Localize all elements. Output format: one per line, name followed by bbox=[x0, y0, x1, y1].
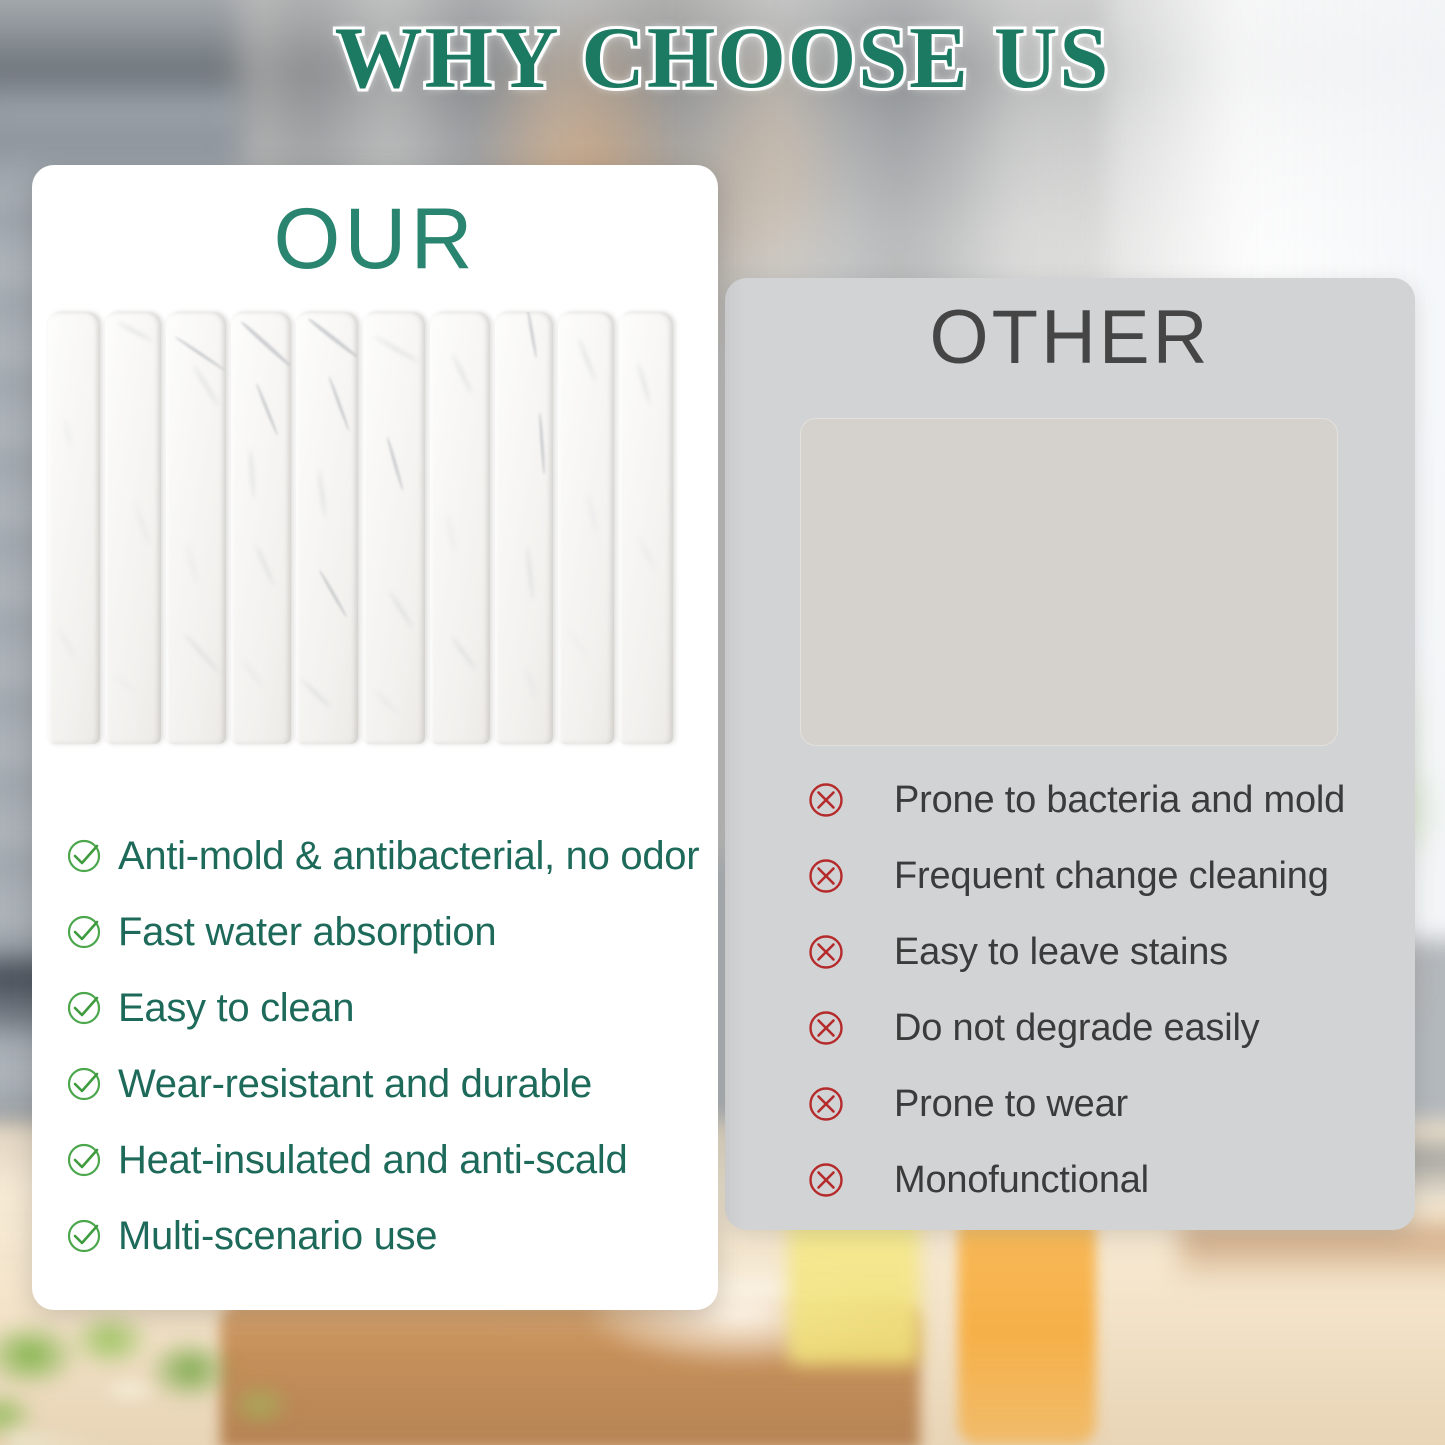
list-item-label: Multi-scenario use bbox=[118, 1214, 437, 1259]
list-item-label: Prone to wear bbox=[894, 1083, 1128, 1126]
list-item: Fast water absorption bbox=[64, 894, 724, 970]
list-item: Easy to clean bbox=[64, 970, 724, 1046]
marble-strip bbox=[430, 312, 490, 744]
list-item: Easy to leave stains bbox=[806, 914, 1406, 990]
cross-circle-icon bbox=[806, 1084, 846, 1124]
marble-strip bbox=[363, 312, 425, 744]
cross-circle-icon bbox=[806, 1160, 846, 1200]
cross-circle-icon bbox=[806, 856, 846, 896]
marble-strip bbox=[231, 312, 291, 744]
list-item: Heat-insulated and anti-scald bbox=[64, 1122, 724, 1198]
other-panel-heading: OTHER bbox=[725, 300, 1415, 376]
check-circle-icon bbox=[64, 1216, 104, 1256]
marble-strip bbox=[166, 312, 226, 744]
marble-strip bbox=[619, 312, 673, 744]
list-item-label: Anti-mold & antibacterial, no odor bbox=[118, 834, 699, 879]
list-item-label: Do not degrade easily bbox=[894, 1007, 1259, 1050]
our-feature-list: Anti-mold & antibacterial, no odor Fast … bbox=[64, 818, 724, 1274]
check-circle-icon bbox=[64, 988, 104, 1028]
background-herb-stems bbox=[10, 1350, 310, 1445]
product-image-marble-strips bbox=[48, 312, 688, 744]
check-circle-icon bbox=[64, 1140, 104, 1180]
cross-circle-icon bbox=[806, 780, 846, 820]
marble-strip bbox=[105, 312, 161, 744]
list-item-label: Monofunctional bbox=[894, 1159, 1149, 1202]
list-item: Anti-mold & antibacterial, no odor bbox=[64, 818, 724, 894]
list-item: Prone to bacteria and mold bbox=[806, 762, 1406, 838]
check-circle-icon bbox=[64, 912, 104, 952]
list-item: Monofunctional bbox=[806, 1142, 1406, 1218]
cross-circle-icon bbox=[806, 1008, 846, 1048]
list-item: Multi-scenario use bbox=[64, 1198, 724, 1274]
check-circle-icon bbox=[64, 1064, 104, 1104]
infographic-canvas: WHY CHOOSE US OTHER Prone to bacteria an… bbox=[0, 0, 1445, 1445]
cross-circle-icon bbox=[806, 932, 846, 972]
other-product-image-placeholder bbox=[800, 418, 1338, 746]
list-item-label: Prone to bacteria and mold bbox=[894, 779, 1345, 822]
list-item-label: Easy to clean bbox=[118, 986, 354, 1031]
marble-strip bbox=[296, 312, 358, 744]
background-juice-glass bbox=[958, 1195, 1096, 1445]
check-circle-icon bbox=[64, 836, 104, 876]
list-item: Wear-resistant and durable bbox=[64, 1046, 724, 1122]
other-drawback-list: Prone to bacteria and mold Frequent chan… bbox=[806, 762, 1406, 1218]
list-item-label: Fast water absorption bbox=[118, 910, 496, 955]
page-title: WHY CHOOSE US bbox=[0, 8, 1445, 109]
list-item-label: Easy to leave stains bbox=[894, 931, 1228, 974]
marble-strip bbox=[558, 312, 614, 744]
list-item: Frequent change cleaning bbox=[806, 838, 1406, 914]
list-item: Do not degrade easily bbox=[806, 990, 1406, 1066]
list-item-label: Frequent change cleaning bbox=[894, 855, 1329, 898]
marble-strip bbox=[48, 312, 100, 744]
list-item-label: Wear-resistant and durable bbox=[118, 1062, 592, 1107]
marble-strip bbox=[495, 312, 553, 744]
list-item-label: Heat-insulated and anti-scald bbox=[118, 1138, 627, 1183]
list-item: Prone to wear bbox=[806, 1066, 1406, 1142]
background-counter-edge-wood bbox=[1180, 1225, 1445, 1280]
our-panel-heading: OUR bbox=[32, 196, 718, 282]
